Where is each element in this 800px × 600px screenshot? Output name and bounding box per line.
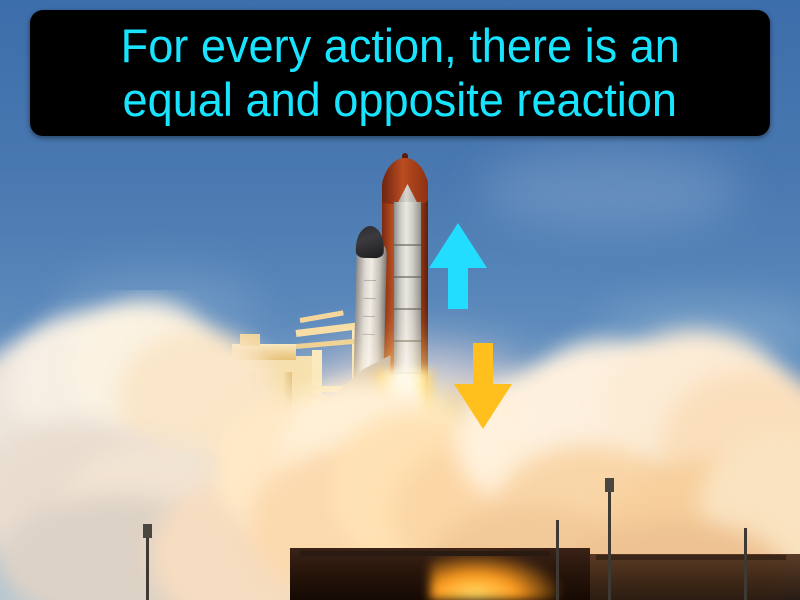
light-pole xyxy=(556,520,559,600)
orbiter-nose xyxy=(356,226,385,259)
light-pole xyxy=(608,492,611,600)
definition-line-1: For every action, there is an xyxy=(120,19,679,73)
pad-structure-right xyxy=(560,554,800,600)
light-pole xyxy=(146,538,149,600)
light-pole xyxy=(744,528,747,600)
definition-card: For every action, there is an equal and … xyxy=(0,0,800,600)
up-arrow-icon xyxy=(425,220,491,317)
definition-line-2: equal and opposite reaction xyxy=(123,73,677,127)
definition-banner: For every action, there is an equal and … xyxy=(30,10,770,136)
down-arrow-icon xyxy=(450,340,516,437)
light-fixture xyxy=(143,524,152,538)
pad-fire xyxy=(430,554,560,600)
cloud-wisp xyxy=(480,150,740,230)
light-fixture xyxy=(605,478,614,492)
